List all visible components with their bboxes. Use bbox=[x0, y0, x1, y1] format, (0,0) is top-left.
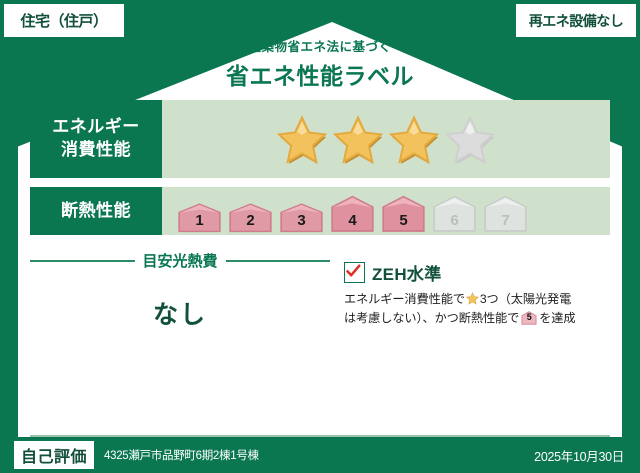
energy-performance-row: エネルギー 消費性能 bbox=[30, 100, 610, 178]
page-title: 省エネ性能ラベル bbox=[0, 57, 640, 91]
renewable-equipment-badge: 再エネ設備なし bbox=[516, 4, 636, 37]
evaluation-type-badge: 自己評価 bbox=[14, 441, 94, 469]
energy-performance-label-line2: 消費性能 bbox=[61, 139, 131, 162]
zeh-section: ZEH水準 エネルギー消費性能で 3つ（太陽光発電 は考慮しない）、かつ断熱性能… bbox=[330, 244, 610, 331]
energy-performance-value bbox=[162, 100, 610, 178]
star-icon-inline bbox=[466, 292, 479, 305]
property-address: 4325瀬戸市品野町6期2棟1号棟 bbox=[104, 447, 534, 463]
insulation-performance-row: 断熱性能 1234567 bbox=[30, 187, 610, 235]
checkmark-icon bbox=[344, 262, 365, 283]
label-content: エネルギー 消費性能 断熱性能 1234567 目安光熱費 bbox=[30, 100, 610, 425]
grade-house-icon bbox=[329, 194, 376, 233]
energy-performance-label: エネルギー 消費性能 bbox=[30, 100, 162, 178]
zeh-desc-part3: を達成 bbox=[539, 311, 575, 325]
star-icon-filled bbox=[332, 114, 384, 164]
grade-house-icon bbox=[227, 202, 274, 233]
utility-cost-heading: 目安光熱費 bbox=[30, 250, 330, 271]
insulation-grade-scale: 1234567 bbox=[176, 189, 529, 233]
label-header: 建築物省エネ法に基づく 省エネ性能ラベル bbox=[0, 36, 640, 91]
insulation-grade-2: 2 bbox=[227, 202, 274, 233]
insulation-grade-6: 6 bbox=[431, 194, 478, 233]
star-icon-filled bbox=[276, 114, 328, 164]
energy-performance-label: 住宅（住戸） 再エネ設備なし 建築物省エネ法に基づく 省エネ性能ラベル エネルギ… bbox=[0, 0, 640, 473]
zeh-desc-part1: エネルギー消費性能で bbox=[344, 292, 465, 306]
insulation-grade-icon-inline: 5 bbox=[521, 311, 537, 325]
renewable-equipment-text: 再エネ設備なし bbox=[529, 11, 624, 31]
zeh-heading: ZEH水準 bbox=[344, 260, 610, 285]
grade-house-icon bbox=[176, 202, 223, 233]
energy-performance-label-line1: エネルギー bbox=[52, 116, 140, 139]
grade-house-icon bbox=[431, 194, 478, 233]
zeh-title: ZEH水準 bbox=[372, 260, 442, 285]
housing-type-badge: 住宅（住戸） bbox=[4, 4, 124, 37]
utility-cost-section: 目安光熱費 なし bbox=[30, 244, 330, 331]
label-footer: 自己評価 4325瀬戸市品野町6期2棟1号棟 2025年10月30日 bbox=[0, 437, 640, 473]
insulation-grade-1: 1 bbox=[176, 202, 223, 233]
insulation-grade-4: 4 bbox=[329, 194, 376, 233]
grade-house-icon bbox=[278, 202, 325, 233]
heading-rule-right bbox=[226, 260, 331, 262]
issue-date: 2025年10月30日 bbox=[534, 446, 624, 465]
utility-cost-value: なし bbox=[30, 295, 330, 331]
insulation-grade-3: 3 bbox=[278, 202, 325, 233]
insulation-grade-5: 5 bbox=[380, 194, 427, 233]
zeh-desc-stars: 3つ（太陽光発電 bbox=[480, 292, 571, 306]
star-rating bbox=[276, 114, 496, 164]
grade-house-icon bbox=[482, 194, 529, 233]
star-icon-empty bbox=[444, 114, 496, 164]
star-icon-filled bbox=[388, 114, 440, 164]
insulation-performance-label-text: 断熱性能 bbox=[61, 200, 131, 223]
zeh-desc-grade: 5 bbox=[521, 311, 537, 325]
insulation-grade-7: 7 bbox=[482, 194, 529, 233]
heading-rule-left bbox=[30, 260, 135, 262]
utility-cost-heading-text: 目安光熱費 bbox=[143, 250, 218, 271]
zeh-description: エネルギー消費性能で 3つ（太陽光発電 は考慮しない）、かつ断熱性能で 5 を達… bbox=[344, 290, 610, 328]
insulation-performance-label: 断熱性能 bbox=[30, 187, 162, 235]
zeh-desc-part2: は考慮しない）、かつ断熱性能で bbox=[344, 311, 519, 325]
grade-house-icon bbox=[380, 194, 427, 233]
insulation-performance-value: 1234567 bbox=[162, 187, 610, 235]
label-subtitle: 建築物省エネ法に基づく bbox=[0, 36, 640, 55]
label-lower-section: 目安光熱費 なし ZEH水準 エネルギー消費性能で bbox=[30, 244, 610, 331]
housing-type-text: 住宅（住戸） bbox=[20, 10, 107, 31]
